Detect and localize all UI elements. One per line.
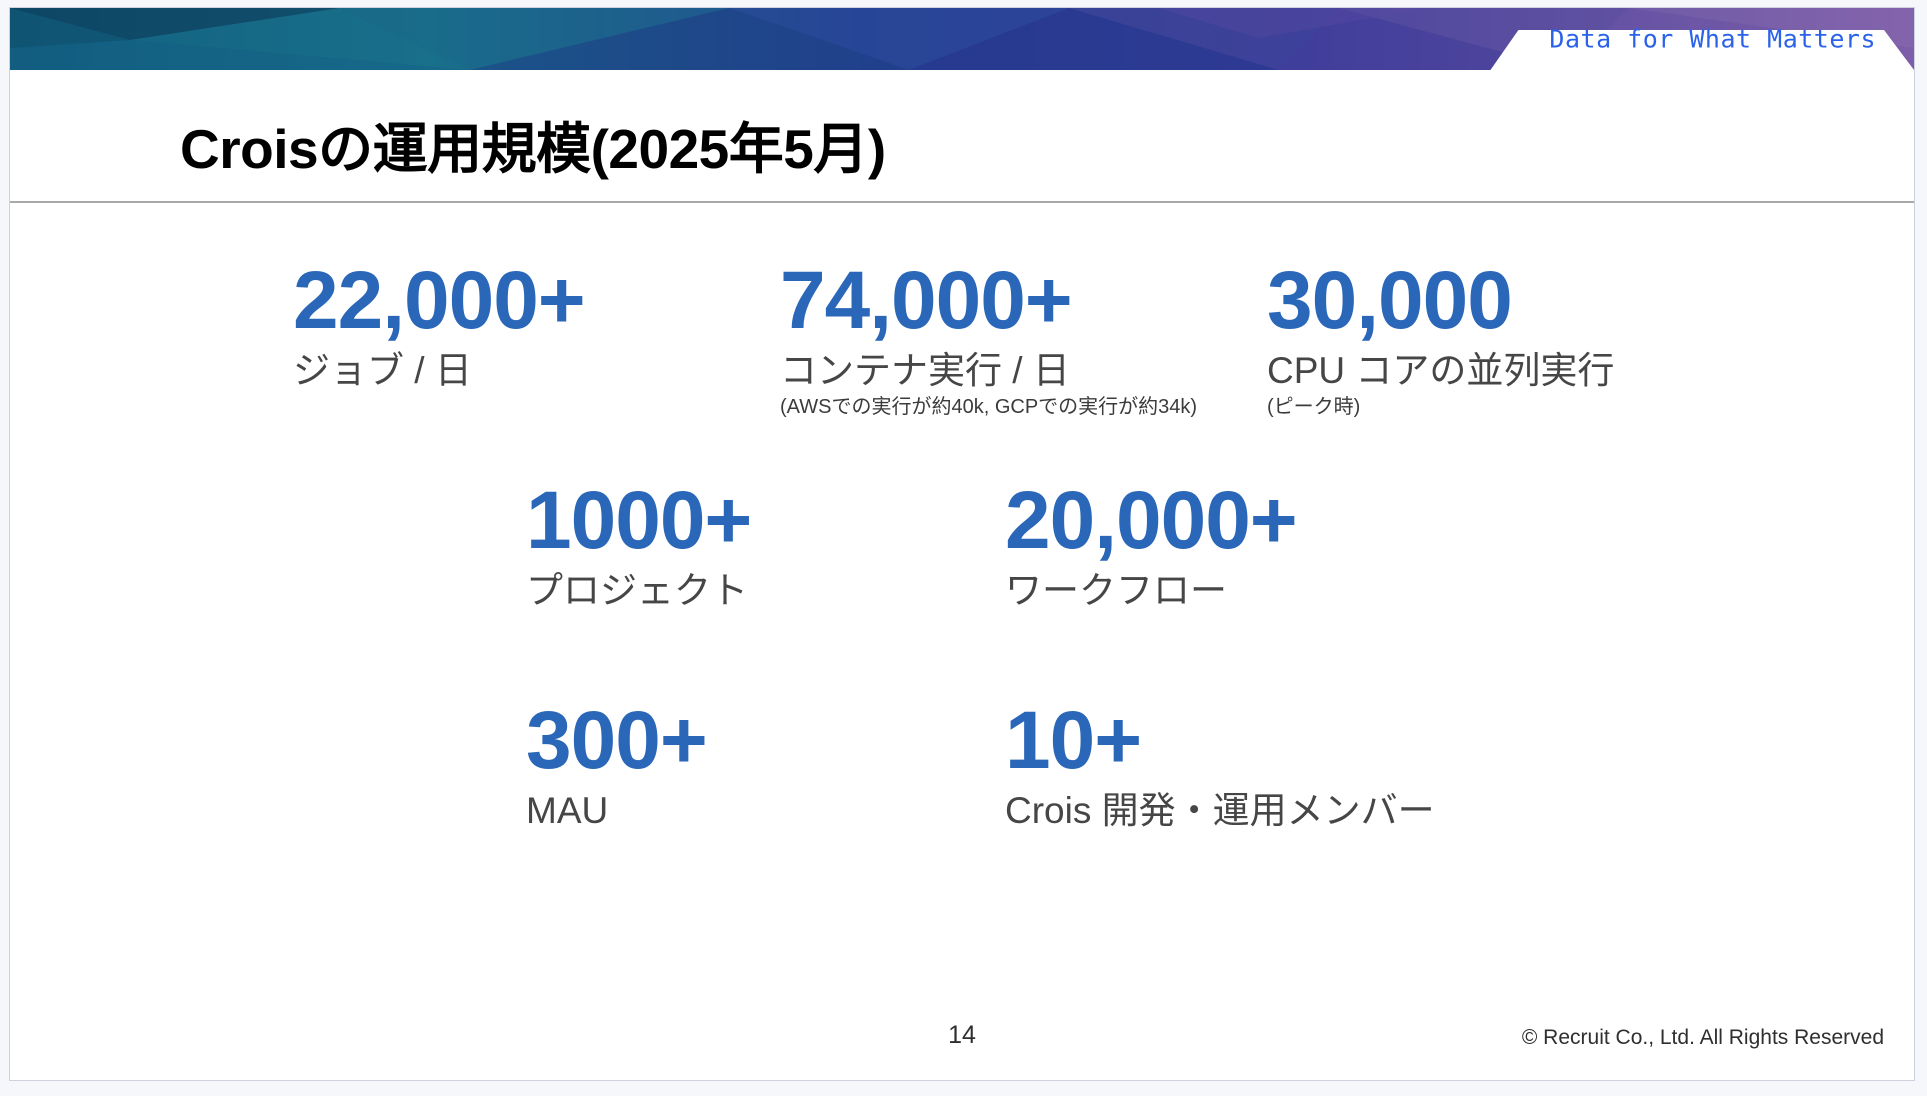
stat-note: (AWSでの実行が約40k, GCPでの実行が約34k) [780, 395, 1197, 419]
stat-value: 30,000 [1267, 260, 1614, 342]
stat-value: 10+ [1005, 700, 1435, 782]
header-banner: Data for What Matters [10, 8, 1914, 70]
stat-item: 1000+ プロジェクト [526, 480, 751, 614]
stat-label: CPU コアの並列実行 [1267, 348, 1614, 394]
stat-label: ジョブ / 日 [293, 348, 585, 394]
stat-label: MAU [526, 788, 707, 834]
banner-logo-text: Data for What Matters [1549, 25, 1876, 54]
slide-card: Data for What Matters Croisの運用規模(2025年5月… [9, 7, 1915, 1081]
stat-value: 1000+ [526, 480, 751, 562]
stat-value: 74,000+ [780, 260, 1197, 342]
stat-label: Crois 開発・運用メンバー [1005, 788, 1435, 834]
stat-value: 20,000+ [1005, 480, 1297, 562]
page-title: Croisの運用規模(2025年5月) [180, 104, 886, 184]
stat-item: 20,000+ ワークフロー [1005, 480, 1297, 614]
stat-value: 22,000+ [293, 260, 585, 342]
stat-item: 22,000+ ジョブ / 日 [293, 260, 585, 394]
title-divider [10, 201, 1914, 203]
stat-item: 10+ Crois 開発・運用メンバー [1005, 700, 1435, 834]
stats-grid: 22,000+ ジョブ / 日 74,000+ コンテナ実行 / 日 (AWSで… [10, 208, 1914, 1010]
stat-item: 300+ MAU [526, 700, 707, 834]
stat-label: コンテナ実行 / 日 [780, 348, 1197, 394]
copyright-notice: © Recruit Co., Ltd. All Rights Reserved [1522, 1026, 1884, 1050]
stat-label: プロジェクト [526, 568, 751, 614]
slide: Data for What Matters Croisの運用規模(2025年5月… [0, 0, 1927, 1096]
stat-item: 74,000+ コンテナ実行 / 日 (AWSでの実行が約40k, GCPでの実… [780, 260, 1197, 419]
stat-label: ワークフロー [1005, 568, 1297, 614]
stat-value: 300+ [526, 700, 707, 782]
stat-note: (ピーク時) [1267, 395, 1614, 419]
stat-item: 30,000 CPU コアの並列実行 (ピーク時) [1267, 260, 1614, 419]
